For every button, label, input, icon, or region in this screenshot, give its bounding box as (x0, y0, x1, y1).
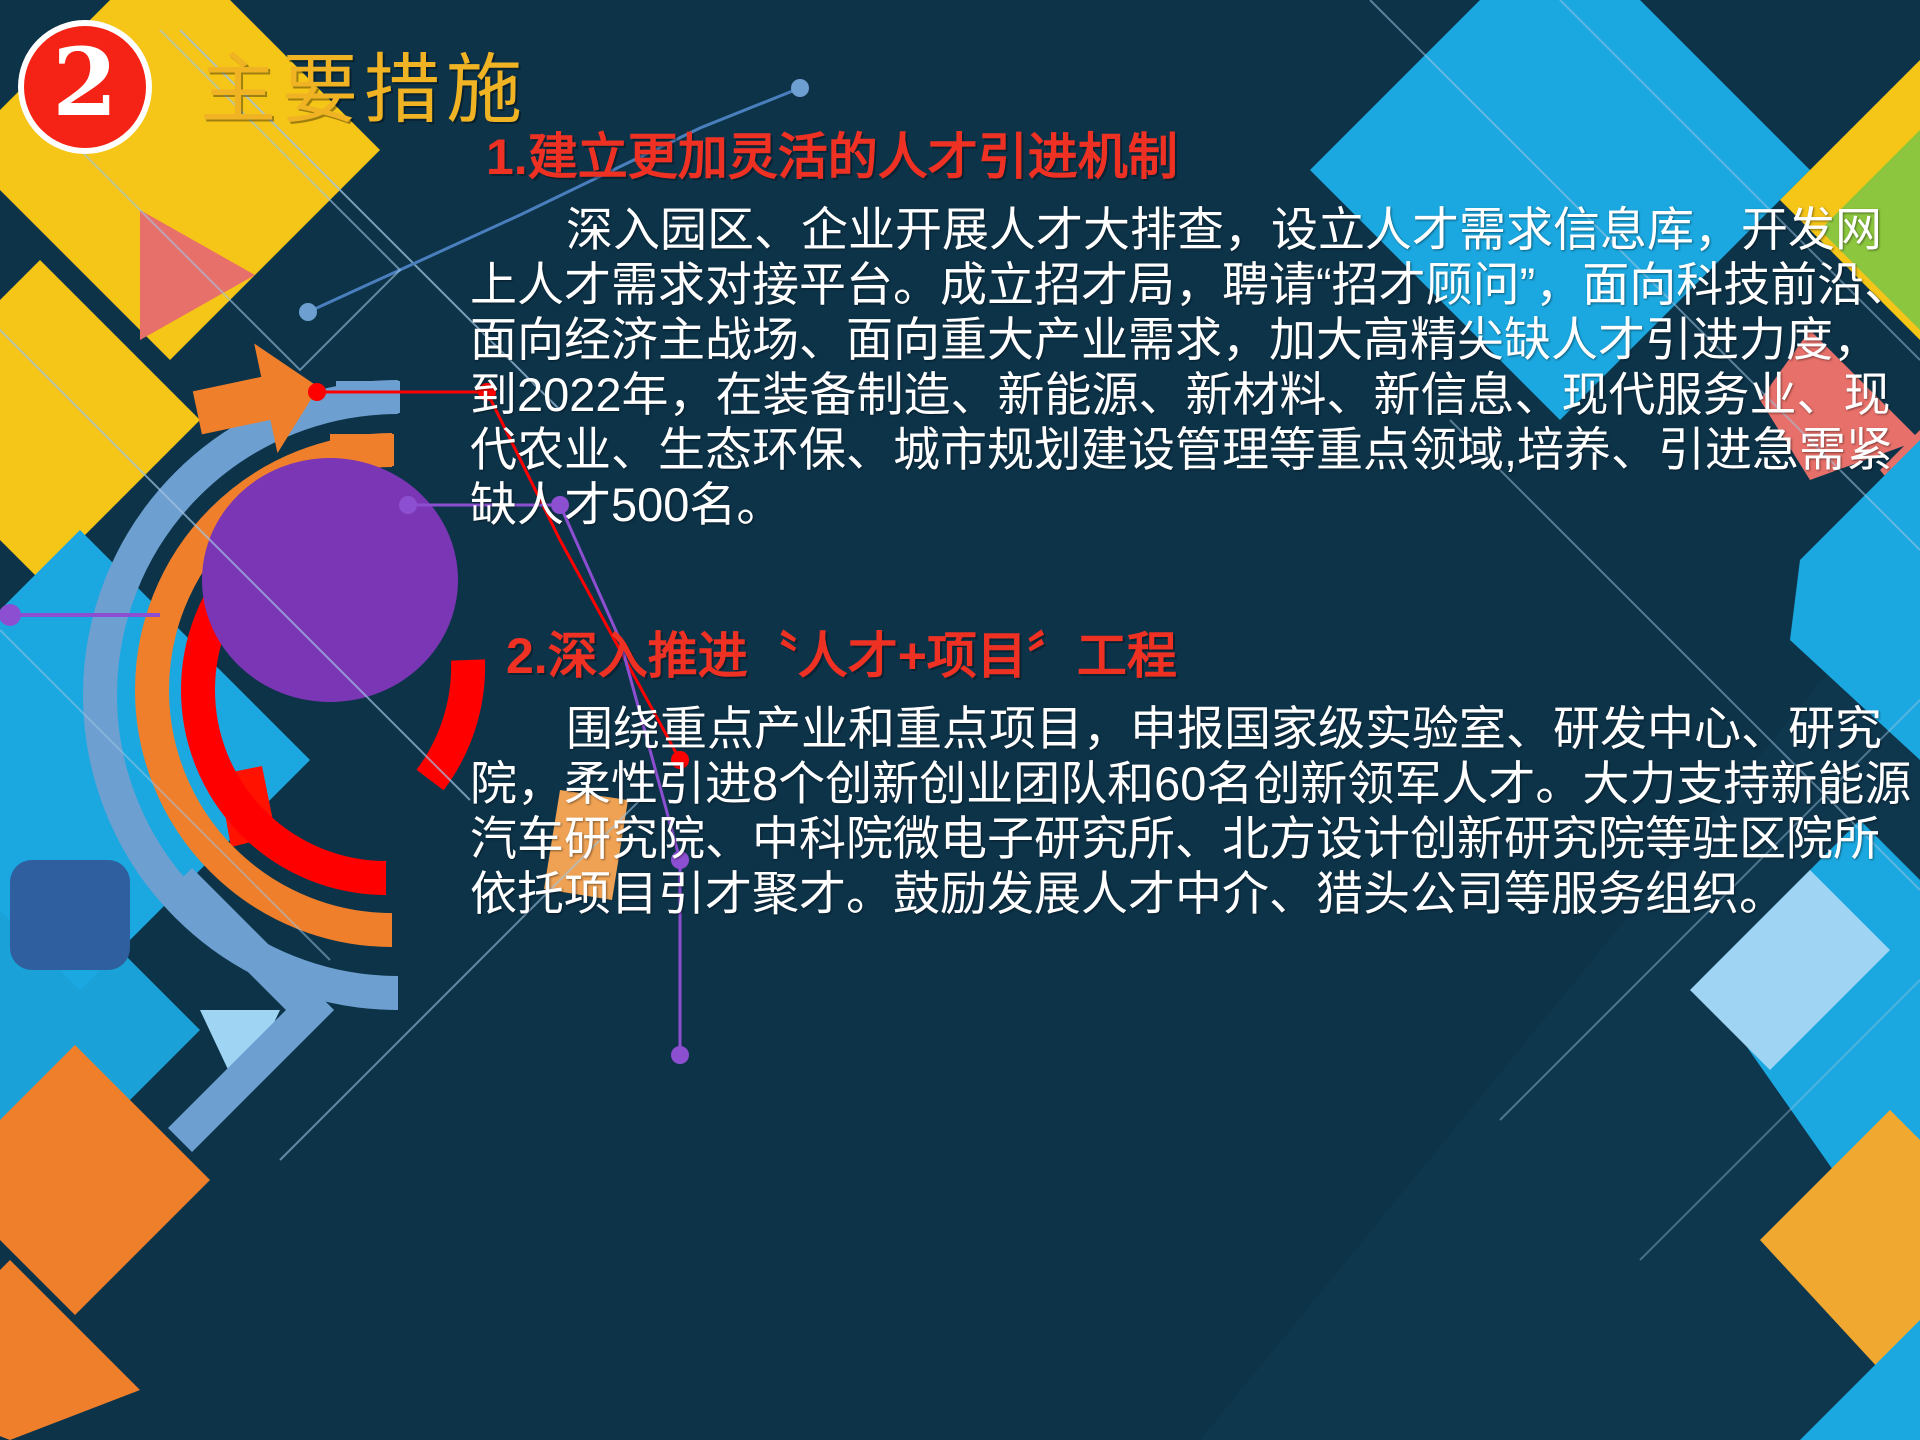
connector-dot-purple-circle (399, 496, 417, 514)
blue-arc-cap (336, 381, 400, 413)
section-heading-2: 2.深入推进〝人才+项目〞工程 (470, 629, 1920, 684)
connector-dot-purple-left (0, 604, 21, 626)
purple-circle (202, 458, 458, 702)
connector-dot-red-arc (308, 383, 326, 401)
content-column: 1.建立更加灵活的人才引进机制 深入园区、企业开展人才大排查，设立人才需求信息库… (470, 130, 1920, 922)
section-heading-1: 1.建立更加灵活的人才引进机制 (470, 130, 1920, 185)
section-body-2: 围绕重点产业和重点项目，申报国家级实验室、研发中心、研究院，柔性引进8个创新创业… (470, 702, 1920, 922)
page-title: 主要措施 (200, 52, 528, 128)
connector-dot-blue-top (791, 79, 809, 97)
section-number: 2 (52, 36, 117, 130)
slide-root: 2 主要措施 1.建立更加灵活的人才引进机制 深入园区、企业开展人才大排查，设立… (0, 0, 1920, 1440)
section-body-1: 深入园区、企业开展人才大排查，设立人才需求信息库，开发网上人才需求对接平台。成立… (470, 203, 1920, 533)
connector-dot-blue-arc (299, 303, 317, 321)
section-number-badge: 2 (18, 20, 152, 154)
